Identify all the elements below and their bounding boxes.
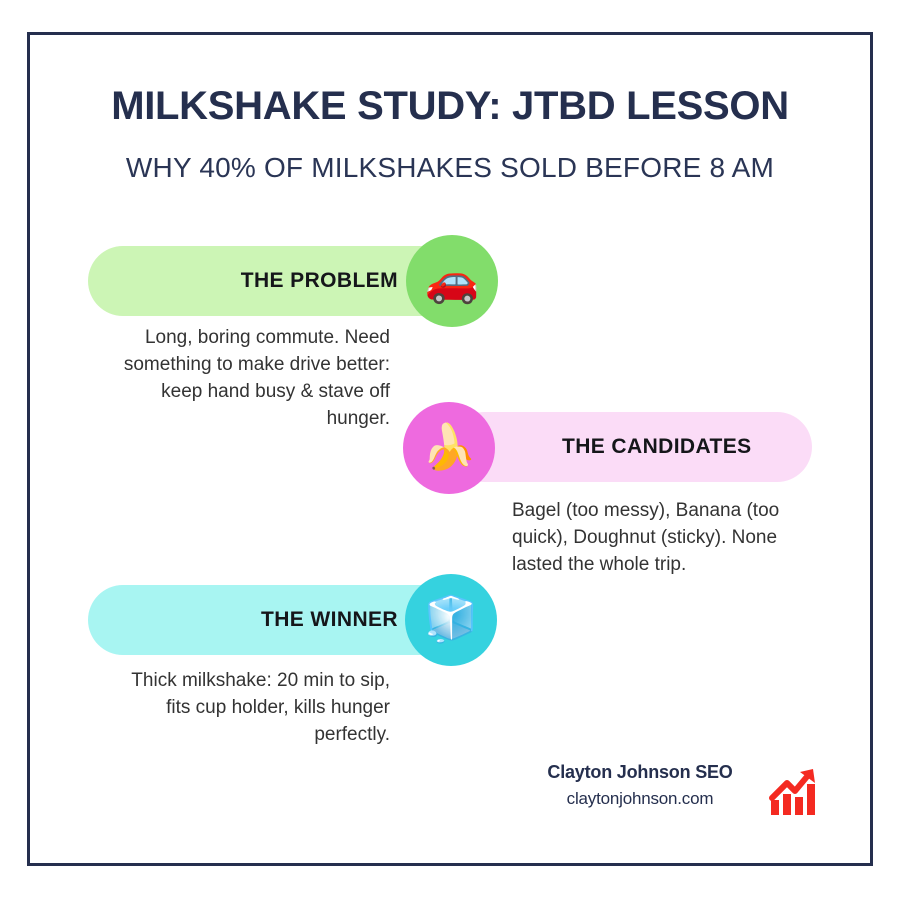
- page-title: MILKSHAKE STUDY: JTBD LESSON: [0, 84, 900, 129]
- infographic-poster: MILKSHAKE STUDY: JTBD LESSON WHY 40% OF …: [0, 0, 900, 900]
- step-candidates-label: THE CANDIDATES: [562, 435, 752, 459]
- brand-url[interactable]: claytonjohnson.com: [520, 789, 760, 809]
- brand-text-block: Clayton Johnson SEO claytonjohnson.com: [520, 762, 760, 809]
- ice-cube-icon: 🧊: [405, 574, 497, 666]
- step-candidates-body: Bagel (too messy), Banana (too quick), D…: [512, 498, 812, 579]
- step-candidates-pill: THE CANDIDATES: [450, 412, 812, 482]
- step-problem-pill: THE PROBLEM: [88, 246, 460, 316]
- brand-name: Clayton Johnson SEO: [520, 762, 760, 783]
- step-problem-body: Long, boring commute. Need something to …: [110, 325, 390, 433]
- red-car-icon-glyph: 🚗: [425, 259, 480, 303]
- footer-branding: Clayton Johnson SEO claytonjohnson.com: [520, 762, 820, 832]
- red-car-icon: 🚗: [406, 235, 498, 327]
- ice-cube-icon-glyph: 🧊: [424, 598, 479, 642]
- step-winner-label: THE WINNER: [261, 608, 398, 632]
- step-problem-label: THE PROBLEM: [241, 269, 398, 293]
- step-winner-body: Thick milkshake: 20 min to sip, fits cup…: [108, 668, 390, 749]
- growth-bar-chart-arrow-icon: [768, 766, 820, 818]
- page-subtitle: WHY 40% OF MILKSHAKES SOLD BEFORE 8 AM: [0, 152, 900, 184]
- banana-icon: 🍌: [403, 402, 495, 494]
- banana-icon-glyph: 🍌: [422, 426, 477, 470]
